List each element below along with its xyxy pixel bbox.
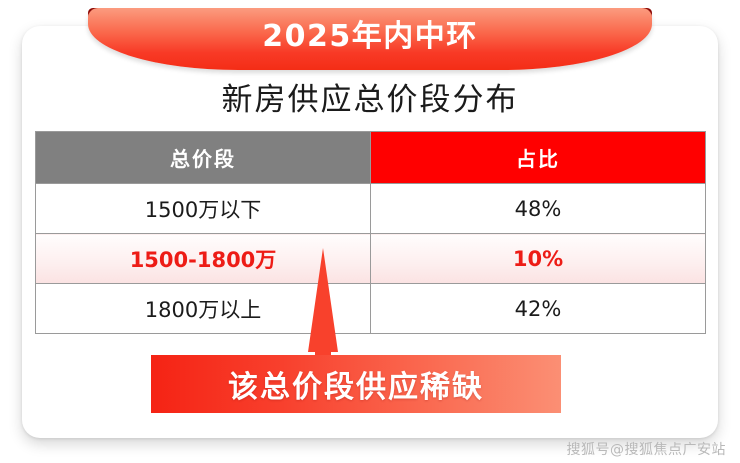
column-header-price-range: 总价段 [36,132,371,184]
callout-banner: 该总价段供应稀缺 [151,355,561,413]
table-row: 1800万以上 42% [36,284,706,334]
price-distribution-table: 总价段 占比 1500万以下 48% 1500-1800万 10% 1800万以… [35,131,706,334]
table-row: 1500万以下 48% [36,184,706,234]
cell-share: 10% [371,234,706,284]
cell-share: 42% [371,284,706,334]
column-header-share: 占比 [371,132,706,184]
watermark: 搜狐号@搜狐焦点广安站 [567,439,727,459]
cell-price-range: 1500万以下 [36,184,371,234]
table-header-row: 总价段 占比 [36,132,706,184]
page-subtitle: 新房供应总价段分布 [0,74,740,119]
cell-price-range: 1500-1800万 [36,234,371,284]
callout-text: 该总价段供应稀缺 [228,362,484,406]
cell-share: 48% [371,184,706,234]
cell-price-range: 1800万以上 [36,284,371,334]
table-row-highlighted: 1500-1800万 10% [36,234,706,284]
